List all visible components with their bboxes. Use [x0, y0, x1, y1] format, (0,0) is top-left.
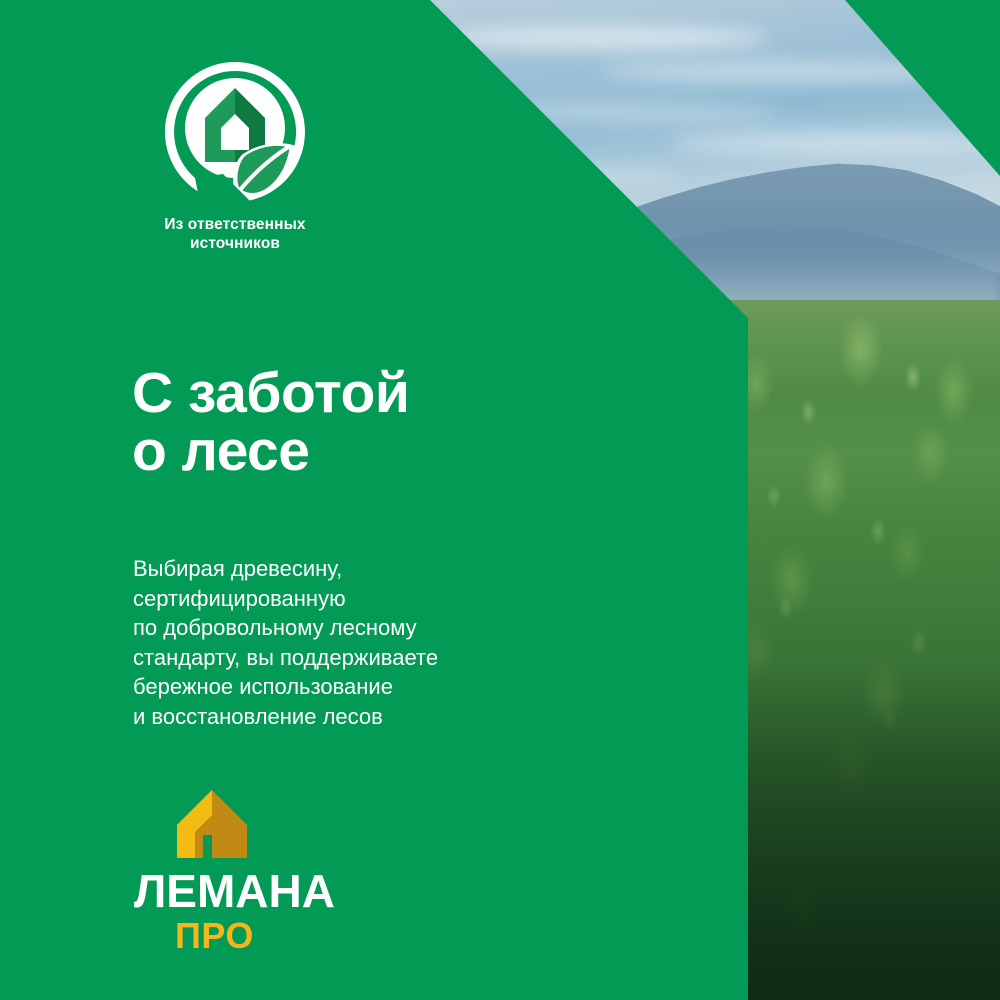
page-title: С заботой о лесе [132, 364, 409, 480]
responsible-sourcing-emblem-icon [161, 58, 309, 206]
poster-root: Из ответственных источников С заботой о … [0, 0, 1000, 1000]
brand-name: ЛЕМАНА [134, 868, 313, 914]
content-layer: Из ответственных источников С заботой о … [0, 0, 1000, 1000]
lemana-house-icon [173, 788, 251, 860]
brand-lockup: ЛЕМАНА ПРО [133, 788, 313, 954]
responsible-sourcing-badge: Из ответственных источников [130, 58, 340, 254]
responsible-sourcing-caption: Из ответственных источников [130, 216, 340, 254]
brand-sub: ПРО [175, 918, 313, 954]
body-paragraph: Выбирая древесину, сертифицированную по … [133, 554, 553, 731]
